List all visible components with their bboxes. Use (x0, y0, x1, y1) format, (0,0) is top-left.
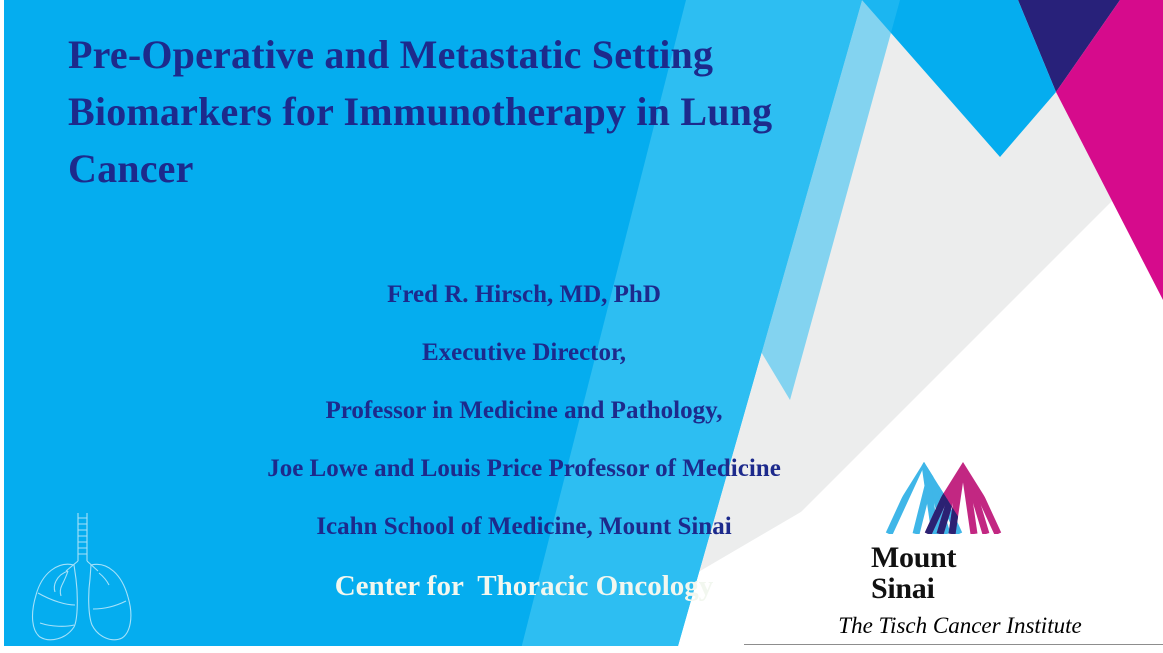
wordmark-line-mount: Mount (871, 542, 956, 573)
presentation-title-slide: Pre-Operative and Metastatic Setting Bio… (0, 0, 1163, 653)
wordmark-line-sinai: Sinai (871, 573, 956, 604)
title-line-2: Biomarkers for Immunotherapy in Lung (68, 83, 948, 140)
author-role-professor: Professor in Medicine and Pathology, (24, 382, 1024, 440)
tagline-divider (744, 644, 1163, 645)
title-line-1: Pre-Operative and Metastatic Setting (68, 26, 948, 83)
title-line-3: Cancer (68, 140, 948, 197)
bottom-white-strip (0, 646, 1163, 653)
left-white-strip (0, 0, 4, 653)
mount-sinai-mountain-icon (877, 458, 1025, 538)
page-title: Pre-Operative and Metastatic Setting Bio… (68, 26, 948, 197)
mount-sinai-logo: Mount Sinai (855, 458, 1085, 618)
mount-sinai-wordmark: Mount Sinai (871, 542, 956, 604)
author-name: Fred R. Hirsch, MD, PhD (24, 266, 1024, 324)
author-role-executive-director: Executive Director, (24, 324, 1024, 382)
tisch-cancer-institute-tagline: The Tisch Cancer Institute (765, 613, 1155, 639)
